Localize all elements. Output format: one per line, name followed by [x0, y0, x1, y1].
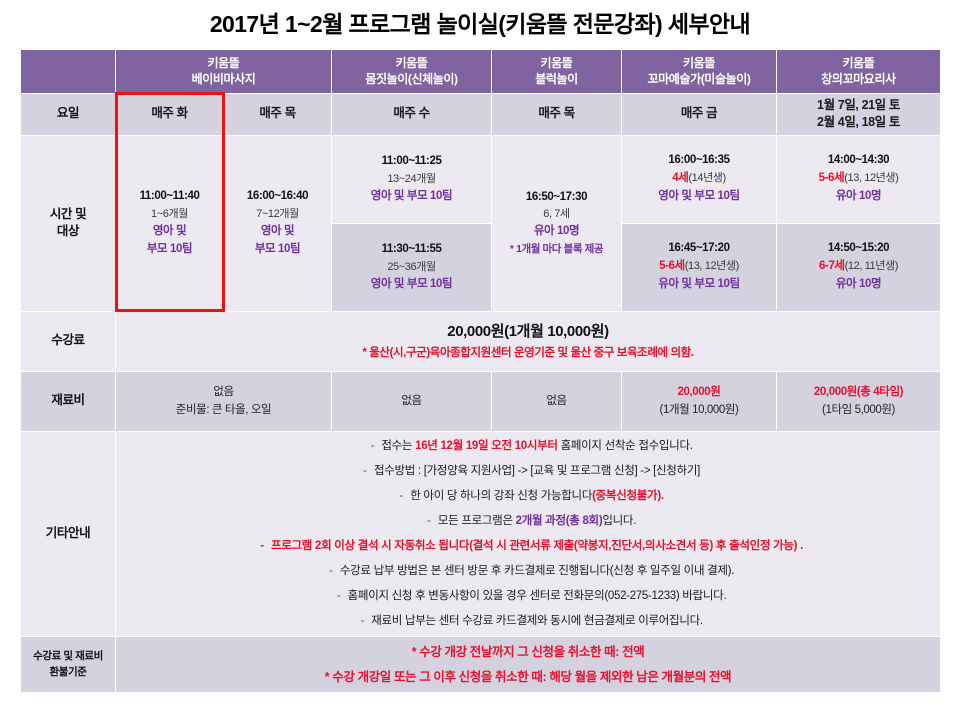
- header-program-body-play: 키움뜰 몸짓놀이(신체놀이): [332, 49, 492, 93]
- session-time: 11:00~11:25: [335, 153, 488, 171]
- header-program-little-artist: 키움뜰 꼬마예술가(미술놀이): [622, 49, 777, 93]
- material-fee-line1: 없음: [495, 392, 618, 410]
- table-row-refund: 수강료 및 재료비 환불기준 * 수강 개강 전날까지 그 신청을 취소한 때:…: [21, 637, 941, 693]
- notice-segment: 홈페이지 선착순 접수입니다.: [558, 440, 693, 452]
- notice-item: -재료비 납부는 센터 수강료 카드결제와 동시에 현금결제로 이루어집니다.: [119, 609, 937, 634]
- day-baby-massage-thu: 매주 목: [224, 93, 332, 135]
- session-target-line1: 영아 및: [119, 223, 220, 241]
- refund-policy-cell: * 수강 개강 전날까지 그 신청을 취소한 때: 전액 * 수강 개강일 또는…: [116, 637, 941, 693]
- table-row-tuition: 수강료 20,000원(1개월 10,000원) * 울산(시,구군)육아종합지…: [21, 311, 941, 371]
- session-age-rest: (13, 12년생): [844, 172, 898, 184]
- session-age: 5-6세(13, 12년생): [625, 258, 773, 276]
- session-target: 영아 및 부모 10팀: [335, 188, 488, 206]
- session-age: 6, 7세: [495, 206, 618, 223]
- other-info-cell: -접수는 16년 12월 19일 오전 10시부터 홈페이지 선착순 접수입니다…: [116, 431, 941, 637]
- session-target: 유아 10명: [780, 276, 937, 294]
- material-fee-line1: 없음: [119, 383, 328, 401]
- notice-segment: 홈페이지 신청 후 변동사항이 있을 경우 센터로 전화문의: [348, 590, 605, 602]
- bullet-dash-icon: -: [253, 534, 271, 559]
- material-fee-baby-massage: 없음 준비물: 큰 타올, 오일: [116, 371, 332, 431]
- material-fee-body-play: 없음: [332, 371, 492, 431]
- table-header-row: 키움뜰 베이비마사지 키움뜰 몸짓놀이(신체놀이) 키움뜰 블럭놀이 키움뜰 꼬…: [21, 49, 941, 93]
- session-target: 영아 및 부모 10팀: [625, 188, 773, 206]
- session-target-line2: 부모 10팀: [119, 241, 220, 259]
- notice-segment: 한 아이 당 하나의 강좌 신청 가능합니다: [410, 490, 592, 502]
- session-age: 13~24개월: [335, 171, 488, 188]
- row-label-refund: 수강료 및 재료비 환불기준: [21, 637, 116, 693]
- session-time: 11:00~11:40: [119, 188, 220, 206]
- schedule-label-line1: 시간 및: [24, 206, 112, 224]
- schedule-body-play-2: 11:30~11:55 25~36개월 영아 및 부모 10팀: [332, 223, 492, 311]
- session-age: 6-7세(12, 11년생): [780, 258, 937, 276]
- program-title-line2: 꼬마예술가(미술놀이): [625, 71, 773, 87]
- session-age: 7~12개월: [227, 206, 328, 223]
- session-time: 16:50~17:30: [495, 189, 618, 207]
- day-saturday-line2: 2월 4일, 18일 토: [780, 114, 937, 132]
- row-label-schedule: 시간 및 대상: [21, 135, 116, 311]
- day-little-chef: 1월 7일, 21일 토 2월 4일, 18일 토: [777, 93, 941, 135]
- program-title-line1: 키움뜰: [780, 55, 937, 71]
- schedule-baby-massage-tue: 11:00~11:40 1~6개월 영아 및 부모 10팀: [116, 135, 224, 311]
- program-title-line2: 블럭놀이: [495, 71, 618, 87]
- session-age-rest: (12, 11년생): [845, 260, 898, 272]
- material-fee-little-chef: 20,000원(총 4타임) (1타임 5,000원): [777, 371, 941, 431]
- day-block-play: 매주 목: [492, 93, 622, 135]
- tuition-value-cell: 20,000원(1개월 10,000원) * 울산(시,구군)육아종합지원센터 …: [116, 311, 941, 371]
- notice-item: -한 아이 당 하나의 강좌 신청 가능합니다(중복신청불가).: [119, 484, 937, 509]
- notice-segment: 접수방법 : [가정양육 지원사업] -> [교육 및 프로그램 신청] -> …: [374, 465, 700, 477]
- day-body-play: 매주 수: [332, 93, 492, 135]
- refund-label-line2: 환불기준: [24, 665, 112, 681]
- tuition-note: * 울산(시,구군)육아종합지원센터 운영기준 및 울산 중구 보육조례에 의함…: [119, 344, 937, 364]
- bullet-dash-icon: -: [356, 459, 374, 484]
- table-row-day: 요일 매주 화 매주 목 매주 수 매주 목 매주 금 1월 7일, 21일 토…: [21, 93, 941, 135]
- page-title: 2017년 1~2월 프로그램 놀이실(키움뜰 전문강좌) 세부안내: [0, 0, 960, 49]
- program-title-line1: 키움뜰: [495, 55, 618, 71]
- schedule-table: 키움뜰 베이비마사지 키움뜰 몸짓놀이(신체놀이) 키움뜰 블럭놀이 키움뜰 꼬…: [20, 49, 941, 694]
- bullet-dash-icon: -: [392, 484, 410, 509]
- notice-segment: 2개월 과정(총 8회): [516, 515, 603, 527]
- tuition-amount: 20,000원(1개월 10,000원): [119, 319, 937, 345]
- day-saturday-line1: 1월 7일, 21일 토: [780, 97, 937, 115]
- program-schedule-page: 2017년 1~2월 프로그램 놀이실(키움뜰 전문강좌) 세부안내 키움뜰 베…: [0, 0, 960, 720]
- schedule-little-artist-2: 16:45~17:20 5-6세(13, 12년생) 유아 및 부모 10팀: [622, 223, 777, 311]
- row-label-material-fee: 재료비: [21, 371, 116, 431]
- notice-list: -접수는 16년 12월 19일 오전 10시부터 홈페이지 선착순 접수입니다…: [119, 434, 937, 635]
- session-age: 1~6개월: [119, 206, 220, 223]
- notice-segment: 모든 프로그램은: [438, 515, 516, 527]
- notice-segment: 입니다.: [602, 515, 636, 527]
- bullet-dash-icon: -: [330, 584, 348, 609]
- session-age: 4세(14년생): [625, 170, 773, 188]
- program-title-line2: 베이비마사지: [119, 71, 328, 87]
- notice-item: -수강료 납부 방법은 본 센터 방문 후 카드결제로 진행됩니다(신청 후 일…: [119, 559, 937, 584]
- table-row-schedule-upper: 시간 및 대상 11:00~11:40 1~6개월 영아 및 부모 10팀 16…: [21, 135, 941, 223]
- notice-item: -접수방법 : [가정양육 지원사업] -> [교육 및 프로그램 신청] ->…: [119, 459, 937, 484]
- bullet-dash-icon: -: [353, 609, 371, 634]
- material-fee-line1: 20,000원(총 4타임): [780, 383, 937, 401]
- row-label-other-info: 기타안내: [21, 431, 116, 637]
- schedule-label-line2: 대상: [24, 223, 112, 241]
- schedule-block-play: 16:50~17:30 6, 7세 유아 10명 * 1개월 마다 블록 제공: [492, 135, 622, 311]
- header-program-baby-massage: 키움뜰 베이비마사지: [116, 49, 332, 93]
- session-target: 유아 및 부모 10팀: [625, 276, 773, 294]
- session-target: 유아 10명: [495, 223, 618, 241]
- material-fee-line2: 준비물: 큰 타올, 오일: [119, 401, 328, 419]
- notice-segment: (결석 시 관련서류 제출(약봉지,진단서,의사소견서 등) 후 출석인정 가능…: [469, 540, 803, 552]
- bullet-dash-icon: -: [322, 559, 340, 584]
- program-title-line1: 키움뜰: [119, 55, 328, 71]
- program-title-line1: 키움뜰: [625, 55, 773, 71]
- session-age: 25~36개월: [335, 259, 488, 276]
- notice-segment: 16년 12월 19일 오전 10시부터: [415, 440, 558, 452]
- session-age-highlight: 5-6세: [659, 260, 685, 272]
- schedule-little-artist-1: 16:00~16:35 4세(14년생) 영아 및 부모 10팀: [622, 135, 777, 223]
- material-fee-line1: 20,000원: [625, 383, 773, 401]
- session-time: 16:45~17:20: [625, 240, 773, 258]
- schedule-little-chef-2: 14:50~15:20 6-7세(12, 11년생) 유아 10명: [777, 223, 941, 311]
- session-time: 16:00~16:35: [625, 152, 773, 170]
- schedule-body-play-1: 11:00~11:25 13~24개월 영아 및 부모 10팀: [332, 135, 492, 223]
- notice-item: -프로그램 2회 이상 결석 시 자동취소 됩니다(결석 시 관련서류 제출(약…: [119, 534, 937, 559]
- refund-policy-line-2: * 수강 개강일 또는 그 이후 신청을 취소한 때: 해당 월을 제외한 남은…: [119, 665, 937, 689]
- session-age-highlight: 5-6세: [819, 172, 845, 184]
- table-row-material-fee: 재료비 없음 준비물: 큰 타올, 오일 없음 없음 20,000원 (1개월 …: [21, 371, 941, 431]
- material-fee-little-artist: 20,000원 (1개월 10,000원): [622, 371, 777, 431]
- day-little-artist: 매주 금: [622, 93, 777, 135]
- header-program-block-play: 키움뜰 블럭놀이: [492, 49, 622, 93]
- notice-segment: 수강료 납부 방법은 본 센터 방문 후 카드결제로 진행됩니다: [340, 565, 610, 577]
- material-fee-block-play: 없음: [492, 371, 622, 431]
- table-row-other-info: 기타안내 -접수는 16년 12월 19일 오전 10시부터 홈페이지 선착순 …: [21, 431, 941, 637]
- program-title-line2: 몸짓놀이(신체놀이): [335, 71, 488, 87]
- program-title-line2: 창의꼬마요리사: [780, 71, 937, 87]
- session-age-highlight: 4세: [672, 172, 688, 184]
- schedule-table-wrapper: 키움뜰 베이비마사지 키움뜰 몸짓놀이(신체놀이) 키움뜰 블럭놀이 키움뜰 꼬…: [0, 49, 960, 694]
- notice-segment: (중복신청불가).: [592, 490, 664, 502]
- row-label-tuition: 수강료: [21, 311, 116, 371]
- bullet-dash-icon: -: [363, 434, 381, 459]
- refund-policy-line-1: * 수강 개강 전날까지 그 신청을 취소한 때: 전액: [119, 640, 937, 664]
- session-target: 유아 10명: [780, 188, 937, 206]
- session-time: 16:00~16:40: [227, 188, 328, 206]
- notice-segment: (신청 후 일주일 이내 결제).: [610, 565, 734, 577]
- session-target-line2: 부모 10팀: [227, 241, 328, 259]
- row-label-day: 요일: [21, 93, 116, 135]
- schedule-baby-massage-thu: 16:00~16:40 7~12개월 영아 및 부모 10팀: [224, 135, 332, 311]
- notice-item: -접수는 16년 12월 19일 오전 10시부터 홈페이지 선착순 접수입니다…: [119, 434, 937, 459]
- session-time: 14:50~15:20: [780, 240, 937, 258]
- session-target-line1: 영아 및: [227, 223, 328, 241]
- header-program-little-chef: 키움뜰 창의꼬마요리사: [777, 49, 941, 93]
- day-baby-massage-tue: 매주 화: [116, 93, 224, 135]
- material-fee-line2: (1타임 5,000원): [780, 401, 937, 419]
- material-fee-line1: 없음: [335, 392, 488, 410]
- notice-item: -모든 프로그램은 2개월 과정(총 8회)입니다.: [119, 509, 937, 534]
- session-age-rest: (14년생): [688, 172, 725, 184]
- refund-label-line1: 수강료 및 재료비: [24, 649, 112, 665]
- session-note: * 1개월 마다 블록 제공: [495, 241, 618, 257]
- notice-segment: 프로그램 2회 이상 결석 시 자동취소 됩니다: [271, 540, 469, 552]
- session-time: 14:00~14:30: [780, 152, 937, 170]
- material-fee-line2: (1개월 10,000원): [625, 401, 773, 419]
- notice-segment: 접수는: [381, 440, 415, 452]
- notice-segment: (052-275-1233): [604, 590, 679, 602]
- bullet-dash-icon: -: [420, 509, 438, 534]
- session-age-rest: (13, 12년생): [685, 260, 739, 272]
- session-target: 영아 및 부모 10팀: [335, 276, 488, 294]
- header-blank-cell: [21, 49, 116, 93]
- schedule-little-chef-1: 14:00~14:30 5-6세(13, 12년생) 유아 10명: [777, 135, 941, 223]
- notice-segment: 바랍니다.: [679, 590, 726, 602]
- notice-segment: 재료비 납부는 센터 수강료 카드결제와 동시에 현금결제로 이루어집니다.: [371, 615, 703, 627]
- session-age-highlight: 6-7세: [819, 260, 845, 272]
- session-age: 5-6세(13, 12년생): [780, 170, 937, 188]
- notice-item: -홈페이지 신청 후 변동사항이 있을 경우 센터로 전화문의(052-275-…: [119, 584, 937, 609]
- session-time: 11:30~11:55: [335, 241, 488, 259]
- program-title-line1: 키움뜰: [335, 55, 488, 71]
